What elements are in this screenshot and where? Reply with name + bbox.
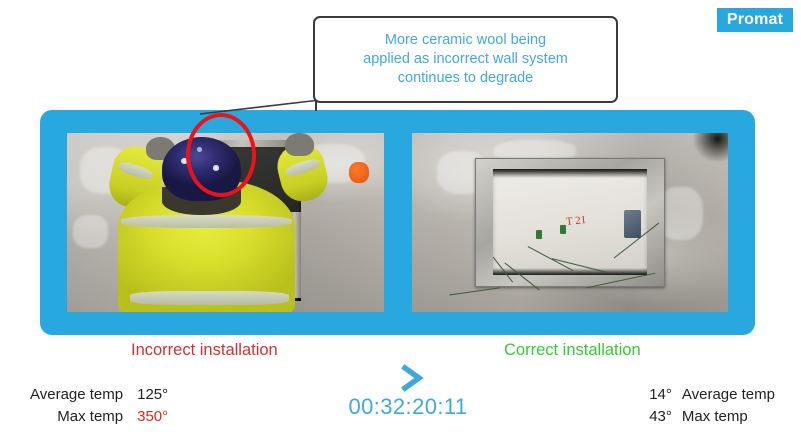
worker-glove-right [285, 133, 313, 156]
photo-correct-installation: T 21 [412, 133, 729, 312]
damper-marking-label: T 21 [565, 214, 586, 228]
wall-smear [73, 215, 108, 247]
callout-line-1: More ceramic wool being [363, 31, 568, 50]
thermocouple-sensor [536, 230, 542, 239]
callout-text: More ceramic wool being applied as incor… [353, 31, 578, 88]
orange-marker [349, 162, 370, 183]
table-row: Max temp 350° [30, 406, 168, 428]
promat-logo: Promat [717, 8, 793, 32]
table-row: 43° Max temp [649, 406, 775, 428]
callout-line-2: applied as incorrect wall system [363, 50, 568, 69]
callout-line-3: continues to degrade [363, 69, 568, 88]
temperature-readout-right: 14° Average temp 43° Max temp [649, 384, 775, 428]
elapsed-timer: 00:32:20:11 [328, 396, 488, 418]
table-row: 14° Average temp [649, 384, 775, 406]
photo-corner-shadow [693, 133, 728, 162]
photo-frame: T 21 [40, 110, 755, 335]
temp-label: Max temp [30, 406, 137, 428]
thermocouple-sensor [560, 225, 566, 234]
temperature-readout-left: Average temp 125° Max temp 350° [30, 384, 168, 428]
wall-smear [658, 187, 702, 241]
hi-vis-reflective-band [121, 215, 292, 228]
temp-label: Average temp [682, 384, 775, 406]
hi-vis-reflective-band [130, 291, 288, 305]
chevron-right-icon[interactable] [395, 364, 429, 392]
caption-incorrect-installation: Incorrect installation [131, 342, 278, 359]
temp-label: Max temp [682, 406, 775, 428]
table-row: Average temp 125° [30, 384, 168, 406]
callout-bubble: More ceramic wool being applied as incor… [313, 16, 618, 103]
damper-actuator-motor [624, 210, 641, 238]
slide-root: Promat More ceramic wool being applied a… [0, 0, 801, 447]
caption-correct-installation: Correct installation [504, 342, 641, 359]
red-highlight-circle [186, 113, 256, 197]
temp-label: Average temp [30, 384, 137, 406]
damper-top-shadow [493, 169, 647, 178]
temp-value: 125° [137, 384, 168, 406]
callout-tail [315, 100, 317, 111]
promat-logo-text: Promat [727, 12, 783, 28]
temp-value-max: 43° [649, 406, 682, 428]
temp-value: 14° [649, 384, 682, 406]
temp-value-max: 350° [137, 406, 168, 428]
